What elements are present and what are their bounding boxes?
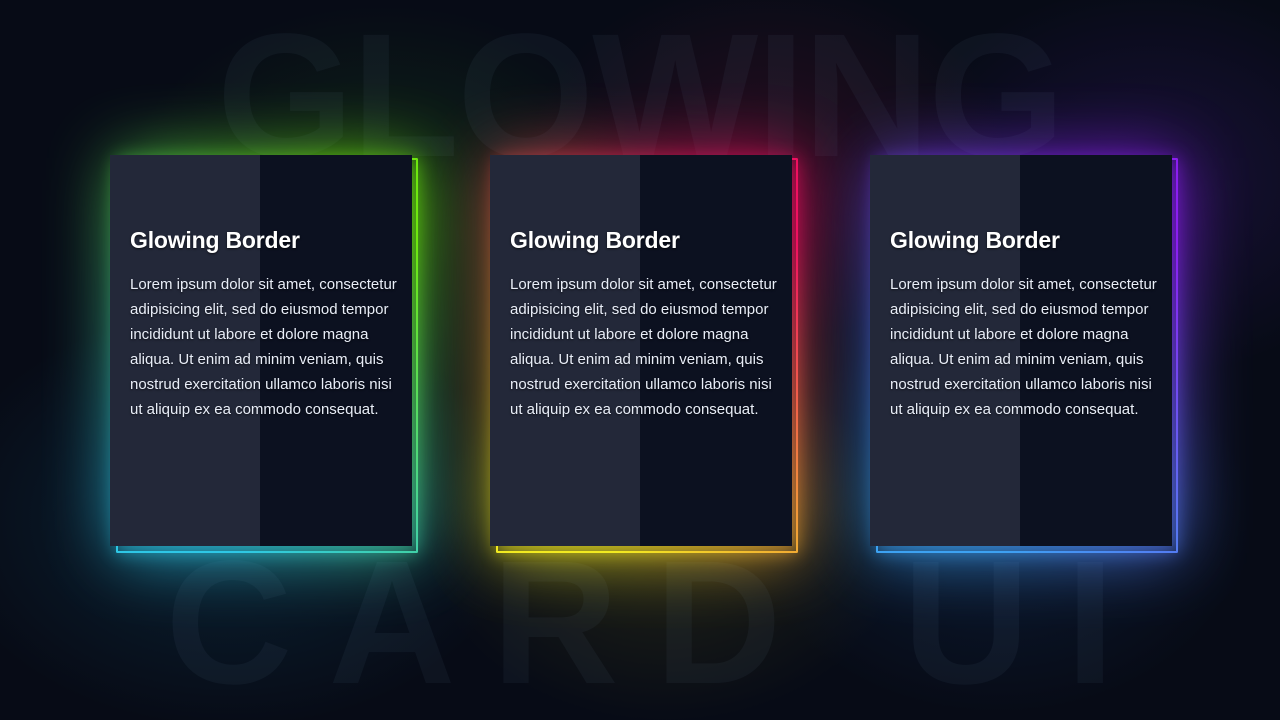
- card-body: Glowing Border Lorem ipsum dolor sit ame…: [130, 227, 402, 422]
- card-body: Glowing Border Lorem ipsum dolor sit ame…: [890, 227, 1162, 422]
- glowing-card[interactable]: Glowing Border Lorem ipsum dolor sit ame…: [110, 155, 412, 550]
- card-body: Glowing Border Lorem ipsum dolor sit ame…: [510, 227, 782, 422]
- glowing-card[interactable]: Glowing Border Lorem ipsum dolor sit ame…: [490, 155, 792, 550]
- card-description: Lorem ipsum dolor sit amet, consectetur …: [890, 272, 1162, 422]
- card-description: Lorem ipsum dolor sit amet, consectetur …: [130, 272, 402, 422]
- card-title: Glowing Border: [890, 227, 1162, 254]
- card-row: Glowing Border Lorem ipsum dolor sit ame…: [110, 155, 1175, 555]
- page-canvas: GLOWING CARD UI Glowing Border Lorem ips…: [0, 0, 1280, 720]
- card-title: Glowing Border: [510, 227, 782, 254]
- background-watermark-bottom: CARD UI: [0, 535, 1280, 711]
- card-title: Glowing Border: [130, 227, 402, 254]
- card-description: Lorem ipsum dolor sit amet, consectetur …: [510, 272, 782, 422]
- glowing-card[interactable]: Glowing Border Lorem ipsum dolor sit ame…: [870, 155, 1172, 550]
